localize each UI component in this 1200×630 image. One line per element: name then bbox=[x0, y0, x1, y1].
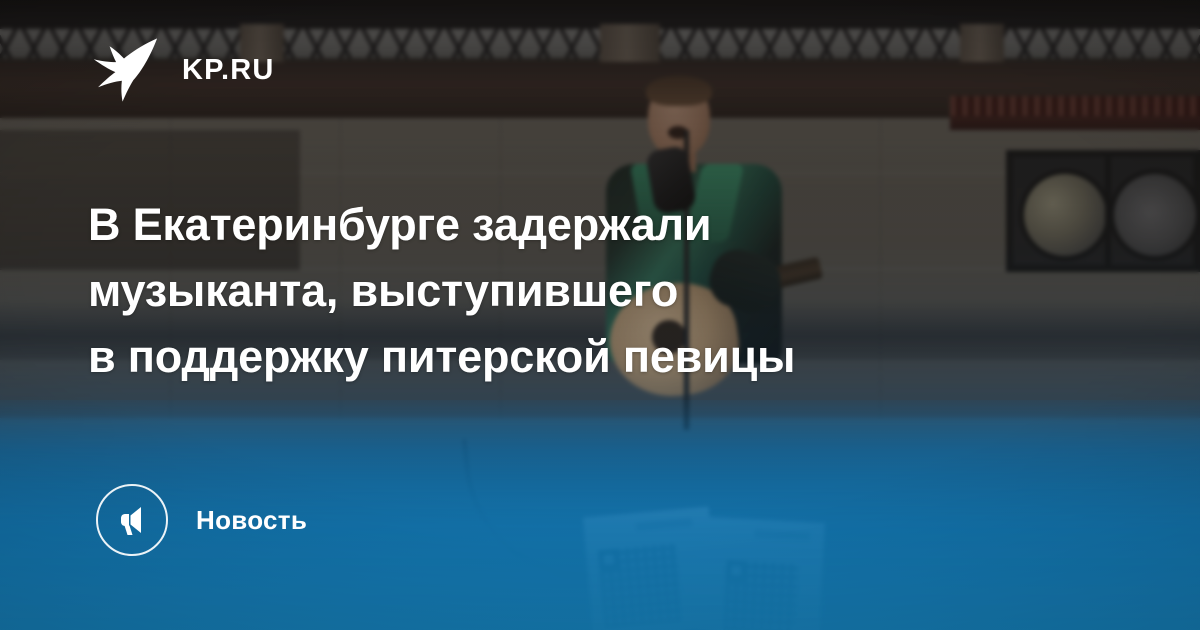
swallow-bird-icon bbox=[88, 34, 160, 106]
news-share-card: KP.RU В Екатеринбурге задержали музыкант… bbox=[0, 0, 1200, 630]
badge-icon-circle bbox=[96, 484, 168, 556]
status-badge[interactable]: Новость bbox=[96, 484, 307, 556]
badge-label: Новость bbox=[196, 505, 307, 536]
headline-line-2: музыканта, выступившего bbox=[88, 258, 1108, 324]
megaphone-icon bbox=[114, 502, 150, 538]
page-title: В Екатеринбурге задержали музыканта, выс… bbox=[88, 192, 1108, 390]
headline-line-3: в поддержку питерской певицы bbox=[88, 324, 1108, 390]
card-content: KP.RU В Екатеринбурге задержали музыкант… bbox=[0, 0, 1200, 630]
brand-lockup[interactable]: KP.RU bbox=[88, 34, 275, 106]
headline-line-1: В Екатеринбурге задержали bbox=[88, 192, 1108, 258]
brand-name: KP.RU bbox=[182, 56, 275, 85]
